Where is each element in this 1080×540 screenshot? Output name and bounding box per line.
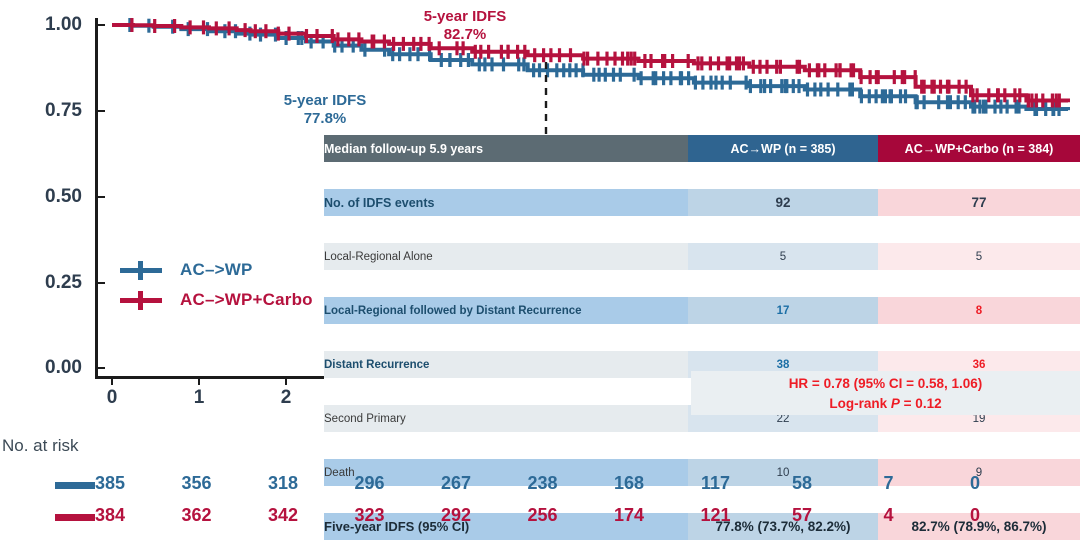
row-label-local-regional-distant: Local-Regional followed by Distant Recur… (324, 297, 688, 324)
legend-label-wp: AC–>WP (180, 260, 253, 280)
risk-number: 0 (945, 505, 1005, 526)
legend: AC–>WP AC–>WP+Carbo (118, 255, 313, 315)
row-value-a-local-regional-distant: 17 (688, 297, 878, 324)
row-value-a-local-regional-alone: 5 (688, 243, 878, 270)
risk-number: 238 (513, 473, 573, 494)
risk-number: 7 (859, 473, 919, 494)
row-label-local-regional-alone: Local-Regional Alone (324, 243, 688, 270)
risk-number: 256 (513, 505, 573, 526)
risk-number: 292 (426, 505, 486, 526)
annotation-wp-line2: 77.8% (250, 110, 400, 128)
log-rank-p-symbol: P (891, 396, 900, 411)
row-label-second-primary: Second Primary (324, 405, 688, 432)
risk-number: 318 (253, 473, 313, 494)
hazard-ratio-text: HR = 0.78 (95% CI = 0.58, 1.06) (691, 374, 1080, 394)
table-row: Local-Regional followed by Distant Recur… (324, 297, 1080, 324)
legend-marker-wp-icon (118, 260, 164, 280)
table-row: No. of IDFS events 92 77 (324, 189, 1080, 216)
log-rank-value: = 0.12 (900, 396, 942, 411)
table-header-row: Median follow-up 5.9 years AC→WP (n = 38… (324, 135, 1080, 162)
risk-number: 323 (340, 505, 400, 526)
risk-number: 168 (599, 473, 659, 494)
legend-item-carbo[interactable]: AC–>WP+Carbo (118, 285, 313, 315)
legend-item-wp[interactable]: AC–>WP (118, 255, 313, 285)
row-label-distant-recurrence: Distant Recurrence (324, 351, 688, 378)
legend-marker-carbo-icon (118, 290, 164, 310)
legend-label-carbo: AC–>WP+Carbo (180, 290, 313, 310)
row-value-b-local-regional-distant: 8 (878, 297, 1080, 324)
table-header-label: Median follow-up 5.9 years (324, 135, 688, 162)
annotation-carbo: 5-year IDFS 82.7% (380, 8, 550, 45)
row-label-idfs-events: No. of IDFS events (324, 189, 688, 216)
risk-number: 385 (80, 473, 140, 494)
annotation-wp: 5-year IDFS 77.8% (250, 92, 400, 129)
row-value-b-local-regional-alone: 5 (878, 243, 1080, 270)
risk-table-title: No. at risk (2, 436, 79, 456)
risk-number: 4 (859, 505, 919, 526)
risk-number: 267 (426, 473, 486, 494)
risk-number: 384 (80, 505, 140, 526)
risk-number: 174 (599, 505, 659, 526)
annotation-carbo-line2: 82.7% (380, 26, 550, 44)
annotation-carbo-line1: 5-year IDFS (380, 8, 550, 26)
risk-number: 0 (945, 473, 1005, 494)
table-header-col-b: AC→WP+Carbo (n = 384) (878, 135, 1080, 162)
risk-number: 296 (340, 473, 400, 494)
annotation-wp-line1: 5-year IDFS (250, 92, 400, 110)
risk-number: 58 (772, 473, 832, 494)
risk-number: 117 (686, 473, 746, 494)
risk-number: 356 (167, 473, 227, 494)
risk-number: 121 (686, 505, 746, 526)
risk-number: 362 (167, 505, 227, 526)
table-row: Local-Regional Alone 5 5 (324, 243, 1080, 270)
statistics-box: HR = 0.78 (95% CI = 0.58, 1.06) Log-rank… (691, 371, 1080, 415)
kaplan-meier-figure: 1.00 0.75 0.50 0.25 0.00 0 1 2 3 4 5 6 T… (0, 0, 1080, 532)
log-rank-prefix: Log-rank (829, 396, 891, 411)
table-header-col-a: AC→WP (n = 385) (688, 135, 878, 162)
risk-number: 342 (253, 505, 313, 526)
risk-number: 57 (772, 505, 832, 526)
row-value-a-idfs-events: 92 (688, 189, 878, 216)
row-value-b-idfs-events: 77 (878, 189, 1080, 216)
log-rank-text: Log-rank P = 0.12 (691, 394, 1080, 414)
